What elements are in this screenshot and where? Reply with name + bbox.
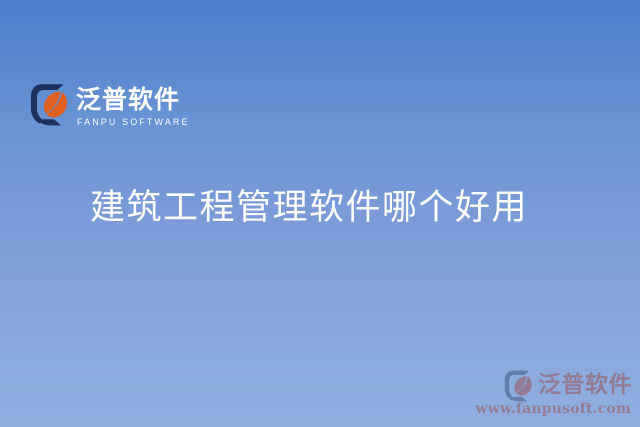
watermark-url: www.fanpusoft.com xyxy=(475,401,631,418)
brand-name-en: FANPU SOFTWARE xyxy=(77,116,190,129)
fanpu-hexagon-logo-icon xyxy=(504,369,534,402)
fanpu-hexagon-logo-icon xyxy=(30,82,70,126)
watermark-logo-row: 泛普软件 xyxy=(504,369,632,402)
poster-canvas: 泛普软件 FANPU SOFTWARE 建筑工程管理软件哪个好用 泛普软件 ww… xyxy=(0,0,640,427)
watermark: 泛普软件 www.fanpusoft.com xyxy=(475,369,632,418)
page-title: 建筑工程管理软件哪个好用 xyxy=(0,186,640,230)
brand-logo: 泛普软件 FANPU SOFTWARE xyxy=(30,82,190,129)
brand-text: 泛普软件 FANPU SOFTWARE xyxy=(76,82,190,129)
watermark-name-cn: 泛普软件 xyxy=(538,372,632,399)
brand-name-cn: 泛普软件 xyxy=(76,85,190,114)
